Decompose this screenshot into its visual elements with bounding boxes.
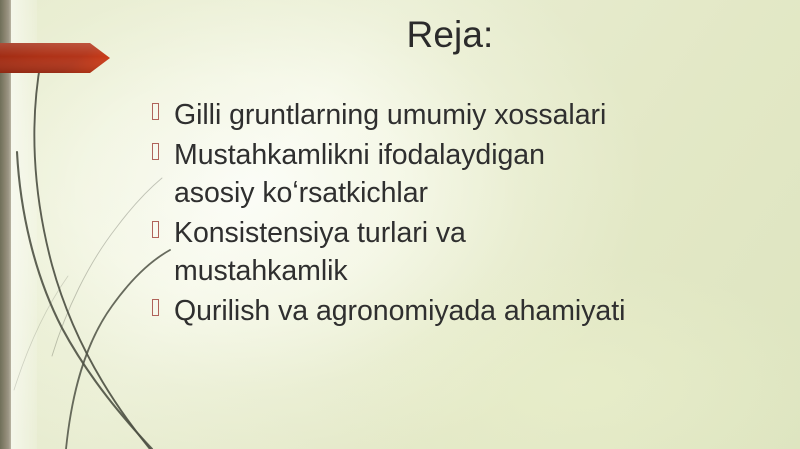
list-item-label: Konsistensiya turlari va mustahkamlik: [174, 214, 788, 290]
tofu-box-bullet-icon: [152, 136, 174, 160]
list-item-label: Mustahkamlikni ifodalaydigan asosiy koʻr…: [174, 136, 788, 212]
page-title: Reja:: [120, 13, 780, 57]
list-item-label: Gilli gruntlarning umumiy xossalari: [174, 96, 788, 134]
presentation-slide: Reja: Gilli gruntlarning umumiy xossalar…: [0, 0, 800, 449]
tofu-box-bullet-icon: [152, 292, 174, 316]
list-item: Konsistensiya turlari va mustahkamlik: [152, 214, 788, 290]
tofu-box-bullet-icon: [152, 214, 174, 238]
list-item: Mustahkamlikni ifodalaydigan asosiy koʻr…: [152, 136, 788, 212]
list-item: Qurilish va agronomiyada ahamiyati: [152, 292, 788, 330]
red-arrow-banner: [0, 41, 112, 75]
tofu-box-bullet-icon: [152, 96, 174, 120]
list-item: Gilli gruntlarning umumiy xossalari: [152, 96, 788, 134]
list-item-label: Qurilish va agronomiyada ahamiyati: [174, 292, 788, 330]
bullet-list: Gilli gruntlarning umumiy xossalari Must…: [152, 96, 788, 332]
